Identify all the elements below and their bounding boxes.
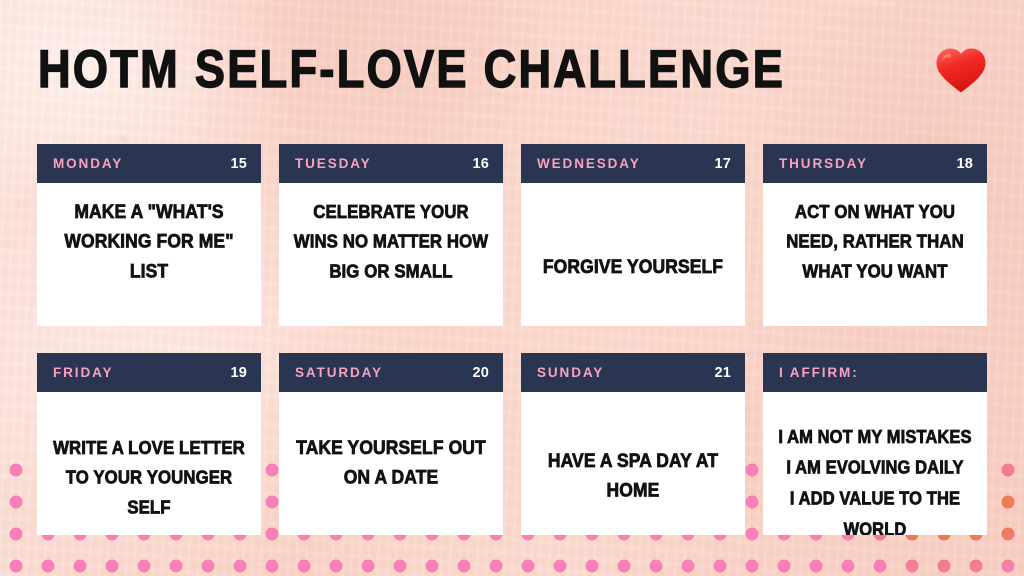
affirmation-card: I AFFIRM: I AM NOT MY MISTAKES I AM EVOL… <box>763 353 987 535</box>
day-card-header: SUNDAY 21 <box>521 353 745 392</box>
day-card-body: MAKE A "WHAT'S WORKING FOR ME" LIST <box>37 183 261 326</box>
date-number: 21 <box>714 365 731 381</box>
day-label: THURSDAY <box>779 156 868 171</box>
day-card-body: WRITE A LOVE LETTER TO YOUR YOUNGER SELF <box>37 392 261 535</box>
date-number: 15 <box>230 156 247 172</box>
date-number: 19 <box>230 365 247 381</box>
day-card-wednesday: WEDNESDAY 17 FORGIVE YOURSELF <box>521 144 745 326</box>
day-card-header: MONDAY 15 <box>37 144 261 183</box>
day-card-thursday: THURSDAY 18 ACT ON WHAT YOU NEED, RATHER… <box>763 144 987 326</box>
day-label: SUNDAY <box>537 365 604 380</box>
day-card-body: TAKE YOURSELF OUT ON A DATE <box>279 392 503 535</box>
date-number: 18 <box>956 156 973 172</box>
affirmation-text: I AM NOT MY MISTAKES I AM EVOLVING DAILY… <box>774 422 976 535</box>
day-label: MONDAY <box>53 156 123 171</box>
day-card-header: FRIDAY 19 <box>37 353 261 392</box>
day-card-friday: FRIDAY 19 WRITE A LOVE LETTER TO YOUR YO… <box>37 353 261 535</box>
task-text: TAKE YOURSELF OUT ON A DATE <box>290 433 492 534</box>
affirmation-card-body: I AM NOT MY MISTAKES I AM EVOLVING DAILY… <box>763 392 987 535</box>
date-number: 20 <box>472 365 489 381</box>
affirmation-card-header: I AFFIRM: <box>763 353 987 392</box>
affirm-label: I AFFIRM: <box>779 365 859 380</box>
day-card-saturday: SATURDAY 20 TAKE YOURSELF OUT ON A DATE <box>279 353 503 535</box>
date-number: 16 <box>472 156 489 172</box>
day-card-sunday: SUNDAY 21 HAVE A SPA DAY AT HOME <box>521 353 745 535</box>
challenge-poster: HOTM SELF-LOVE CHALLENGE MONDAY 15 MAKE … <box>0 0 1024 576</box>
day-label: FRIDAY <box>53 365 113 380</box>
day-card-header: TUESDAY 16 <box>279 144 503 183</box>
day-label: WEDNESDAY <box>537 156 641 171</box>
day-card-body: HAVE A SPA DAY AT HOME <box>521 392 745 535</box>
day-card-body: FORGIVE YOURSELF <box>521 183 745 326</box>
challenge-card-grid: MONDAY 15 MAKE A "WHAT'S WORKING FOR ME"… <box>37 144 987 535</box>
task-text: HAVE A SPA DAY AT HOME <box>532 446 734 533</box>
day-label: SATURDAY <box>295 365 383 380</box>
heart-icon <box>933 44 989 94</box>
day-card-body: CELEBRATE YOUR WINS NO MATTER HOW BIG OR… <box>279 183 503 326</box>
task-text: CELEBRATE YOUR WINS NO MATTER HOW BIG OR… <box>290 197 492 326</box>
day-card-header: SATURDAY 20 <box>279 353 503 392</box>
day-card-monday: MONDAY 15 MAKE A "WHAT'S WORKING FOR ME"… <box>37 144 261 326</box>
day-card-header: THURSDAY 18 <box>763 144 987 183</box>
task-text: WRITE A LOVE LETTER TO YOUR YOUNGER SELF <box>48 433 250 534</box>
day-card-tuesday: TUESDAY 16 CELEBRATE YOUR WINS NO MATTER… <box>279 144 503 326</box>
day-card-body: ACT ON WHAT YOU NEED, RATHER THAN WHAT Y… <box>763 183 987 326</box>
date-number: 17 <box>714 156 731 172</box>
day-label: TUESDAY <box>295 156 372 171</box>
task-text: MAKE A "WHAT'S WORKING FOR ME" LIST <box>48 197 250 326</box>
task-text: ACT ON WHAT YOU NEED, RATHER THAN WHAT Y… <box>774 197 976 326</box>
day-card-header: WEDNESDAY 17 <box>521 144 745 183</box>
page-title: HOTM SELF-LOVE CHALLENGE <box>38 41 785 97</box>
task-text: FORGIVE YOURSELF <box>532 252 734 322</box>
